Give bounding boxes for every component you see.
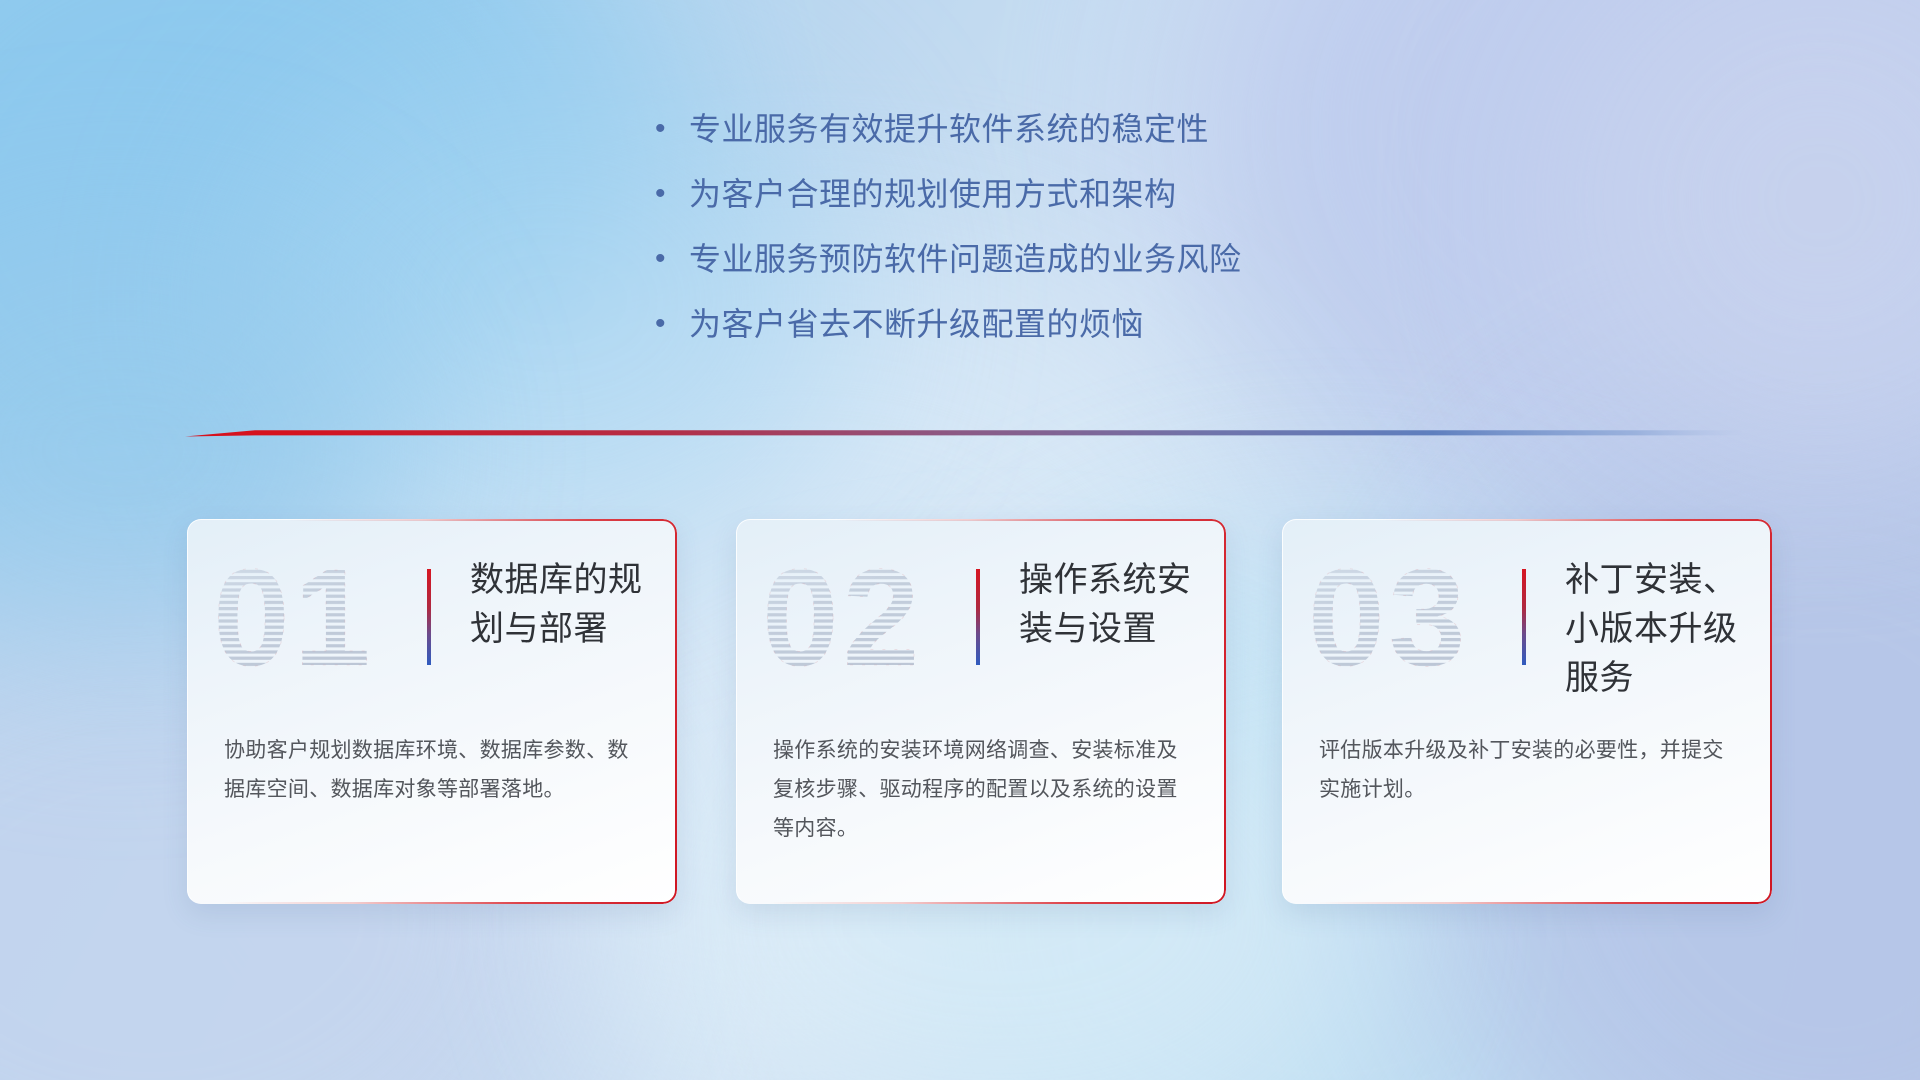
card-number-01-icon: 01 01	[211, 545, 401, 690]
service-card[interactable]: 01 01 数据库的规划与部署 协助客户规划数据库环境、数据库参数、数据库空间、…	[187, 519, 677, 904]
card-header: 02 02 操作系统安装与设置	[736, 519, 1226, 719]
card-number-03-icon: 03 03	[1306, 545, 1496, 690]
bullet-text: 专业服务预防软件问题造成的业务风险	[689, 238, 1242, 280]
bullet-dot-icon: •	[655, 173, 689, 215]
bullet-text: 为客户省去不断升级配置的烦恼	[689, 303, 1144, 345]
svg-text:02: 02	[762, 545, 924, 690]
bullet-text: 专业服务有效提升软件系统的稳定性	[689, 108, 1209, 150]
bullet-dot-icon: •	[655, 108, 689, 150]
section-divider	[185, 425, 1745, 441]
card-title: 数据库的规划与部署	[470, 556, 670, 654]
list-item: • 专业服务预防软件问题造成的业务风险	[655, 238, 1515, 303]
striped-number-glyph-icon: 03 03	[1306, 545, 1496, 690]
list-item: • 为客户合理的规划使用方式和架构	[655, 173, 1515, 238]
card-header: 03 03 补丁安装、小版本升级服务	[1282, 519, 1772, 719]
svg-text:03: 03	[1308, 545, 1470, 690]
bullet-dot-icon: •	[655, 238, 689, 280]
striped-number-glyph-icon: 02 02	[760, 545, 950, 690]
card-description: 评估版本升级及补丁安装的必要性，并提交实施计划。	[1319, 731, 1739, 809]
card-accent-bar	[427, 569, 431, 665]
card-description: 协助客户规划数据库环境、数据库参数、数据库空间、数据库对象等部署落地。	[224, 731, 644, 809]
service-cards: 01 01 数据库的规划与部署 协助客户规划数据库环境、数据库参数、数据库空间、…	[0, 519, 1920, 919]
card-accent-bar	[1522, 569, 1526, 665]
benefits-bullet-list: • 专业服务有效提升软件系统的稳定性 • 为客户合理的规划使用方式和架构 • 专…	[655, 108, 1515, 368]
list-item: • 为客户省去不断升级配置的烦恼	[655, 303, 1515, 368]
divider-shape-icon	[185, 425, 1745, 441]
svg-text:01: 01	[213, 545, 375, 690]
bullet-text: 为客户合理的规划使用方式和架构	[689, 173, 1177, 215]
card-number-02-icon: 02 02	[760, 545, 950, 690]
card-header: 01 01 数据库的规划与部署	[187, 519, 677, 719]
striped-number-glyph-icon: 01 01	[211, 545, 401, 690]
card-title: 操作系统安装与设置	[1019, 556, 1219, 654]
card-description: 操作系统的安装环境网络调查、安装标准及复核步骤、驱动程序的配置以及系统的设置等内…	[773, 731, 1193, 848]
service-card[interactable]: 02 02 操作系统安装与设置 操作系统的安装环境网络调查、安装标准及复核步骤、…	[736, 519, 1226, 904]
card-accent-bar	[976, 569, 980, 665]
service-card[interactable]: 03 03 补丁安装、小版本升级服务 评估版本升级及补丁安装的必要性，并提交实施…	[1282, 519, 1772, 904]
bullet-dot-icon: •	[655, 303, 689, 345]
list-item: • 专业服务有效提升软件系统的稳定性	[655, 108, 1515, 173]
card-title: 补丁安装、小版本升级服务	[1565, 556, 1765, 703]
